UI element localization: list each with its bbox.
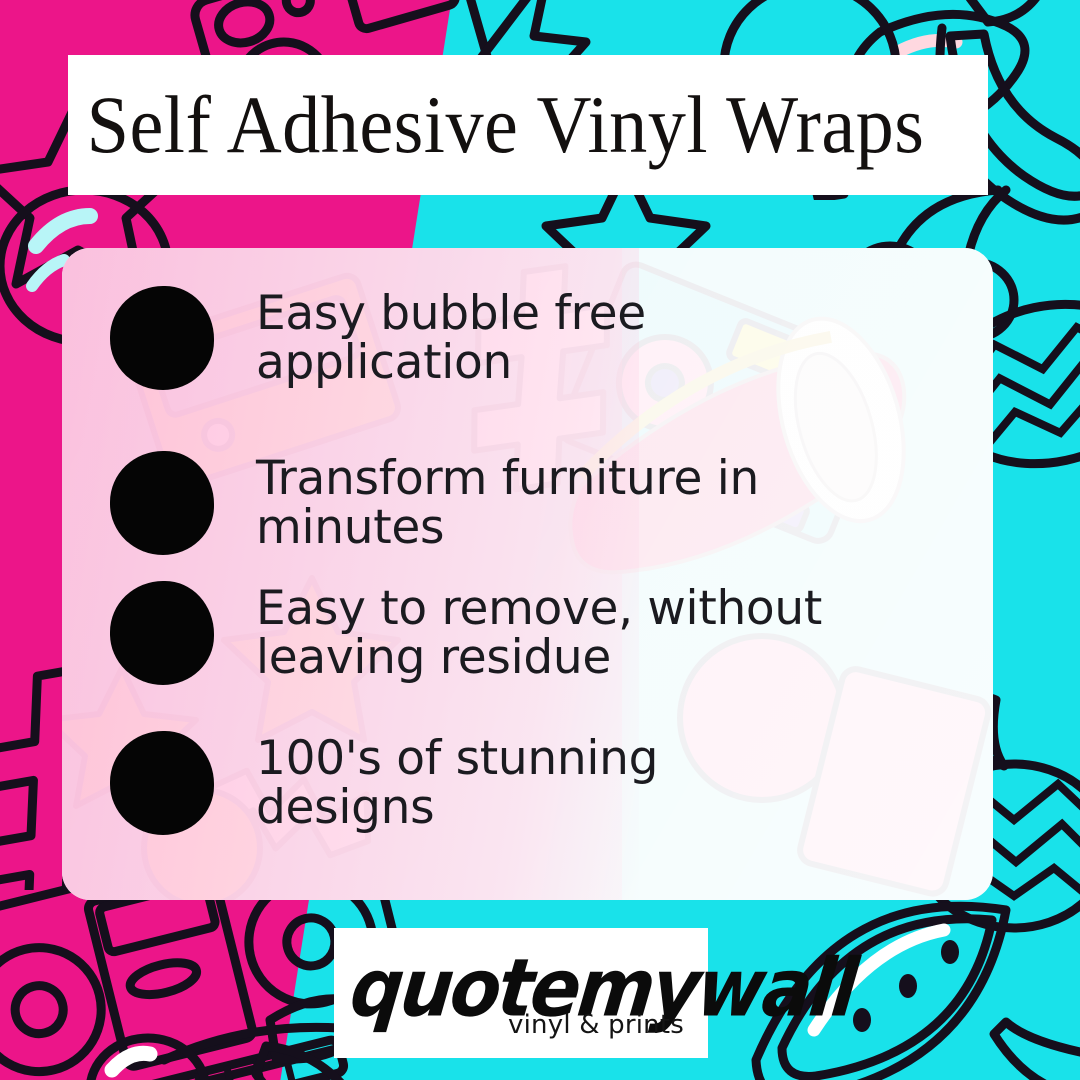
filled-circle-bullet-icon: [110, 451, 214, 555]
brand-logo: quotemywall vinyl & prints: [334, 928, 708, 1058]
list-item: Easy bubble free application: [110, 286, 646, 390]
list-item: Transform furniture in minutes: [110, 451, 759, 555]
feature-text: Easy bubble free application: [256, 290, 646, 388]
page-title: Self Adhesive Vinyl Wraps: [68, 84, 924, 166]
feature-text: Transform furniture in minutes: [256, 455, 759, 553]
banana-doodle-icon: [986, 1000, 1080, 1080]
list-item: Easy to remove, without leaving residue: [110, 581, 822, 685]
feature-list: Easy bubble free application Transform f…: [62, 248, 993, 900]
filled-circle-bullet-icon: [110, 286, 214, 390]
logo-tagline: vinyl & prints: [508, 1010, 684, 1040]
feature-text: 100's of stunning designs: [256, 735, 658, 833]
feature-text: Easy to remove, without leaving residue: [256, 585, 822, 683]
filled-circle-bullet-icon: [110, 581, 214, 685]
promo-graphic: Easy bubble free application Transform f…: [0, 0, 1080, 1080]
title-banner: Self Adhesive Vinyl Wraps: [68, 55, 988, 195]
list-item: 100's of stunning designs: [110, 731, 658, 835]
filled-circle-bullet-icon: [110, 731, 214, 835]
